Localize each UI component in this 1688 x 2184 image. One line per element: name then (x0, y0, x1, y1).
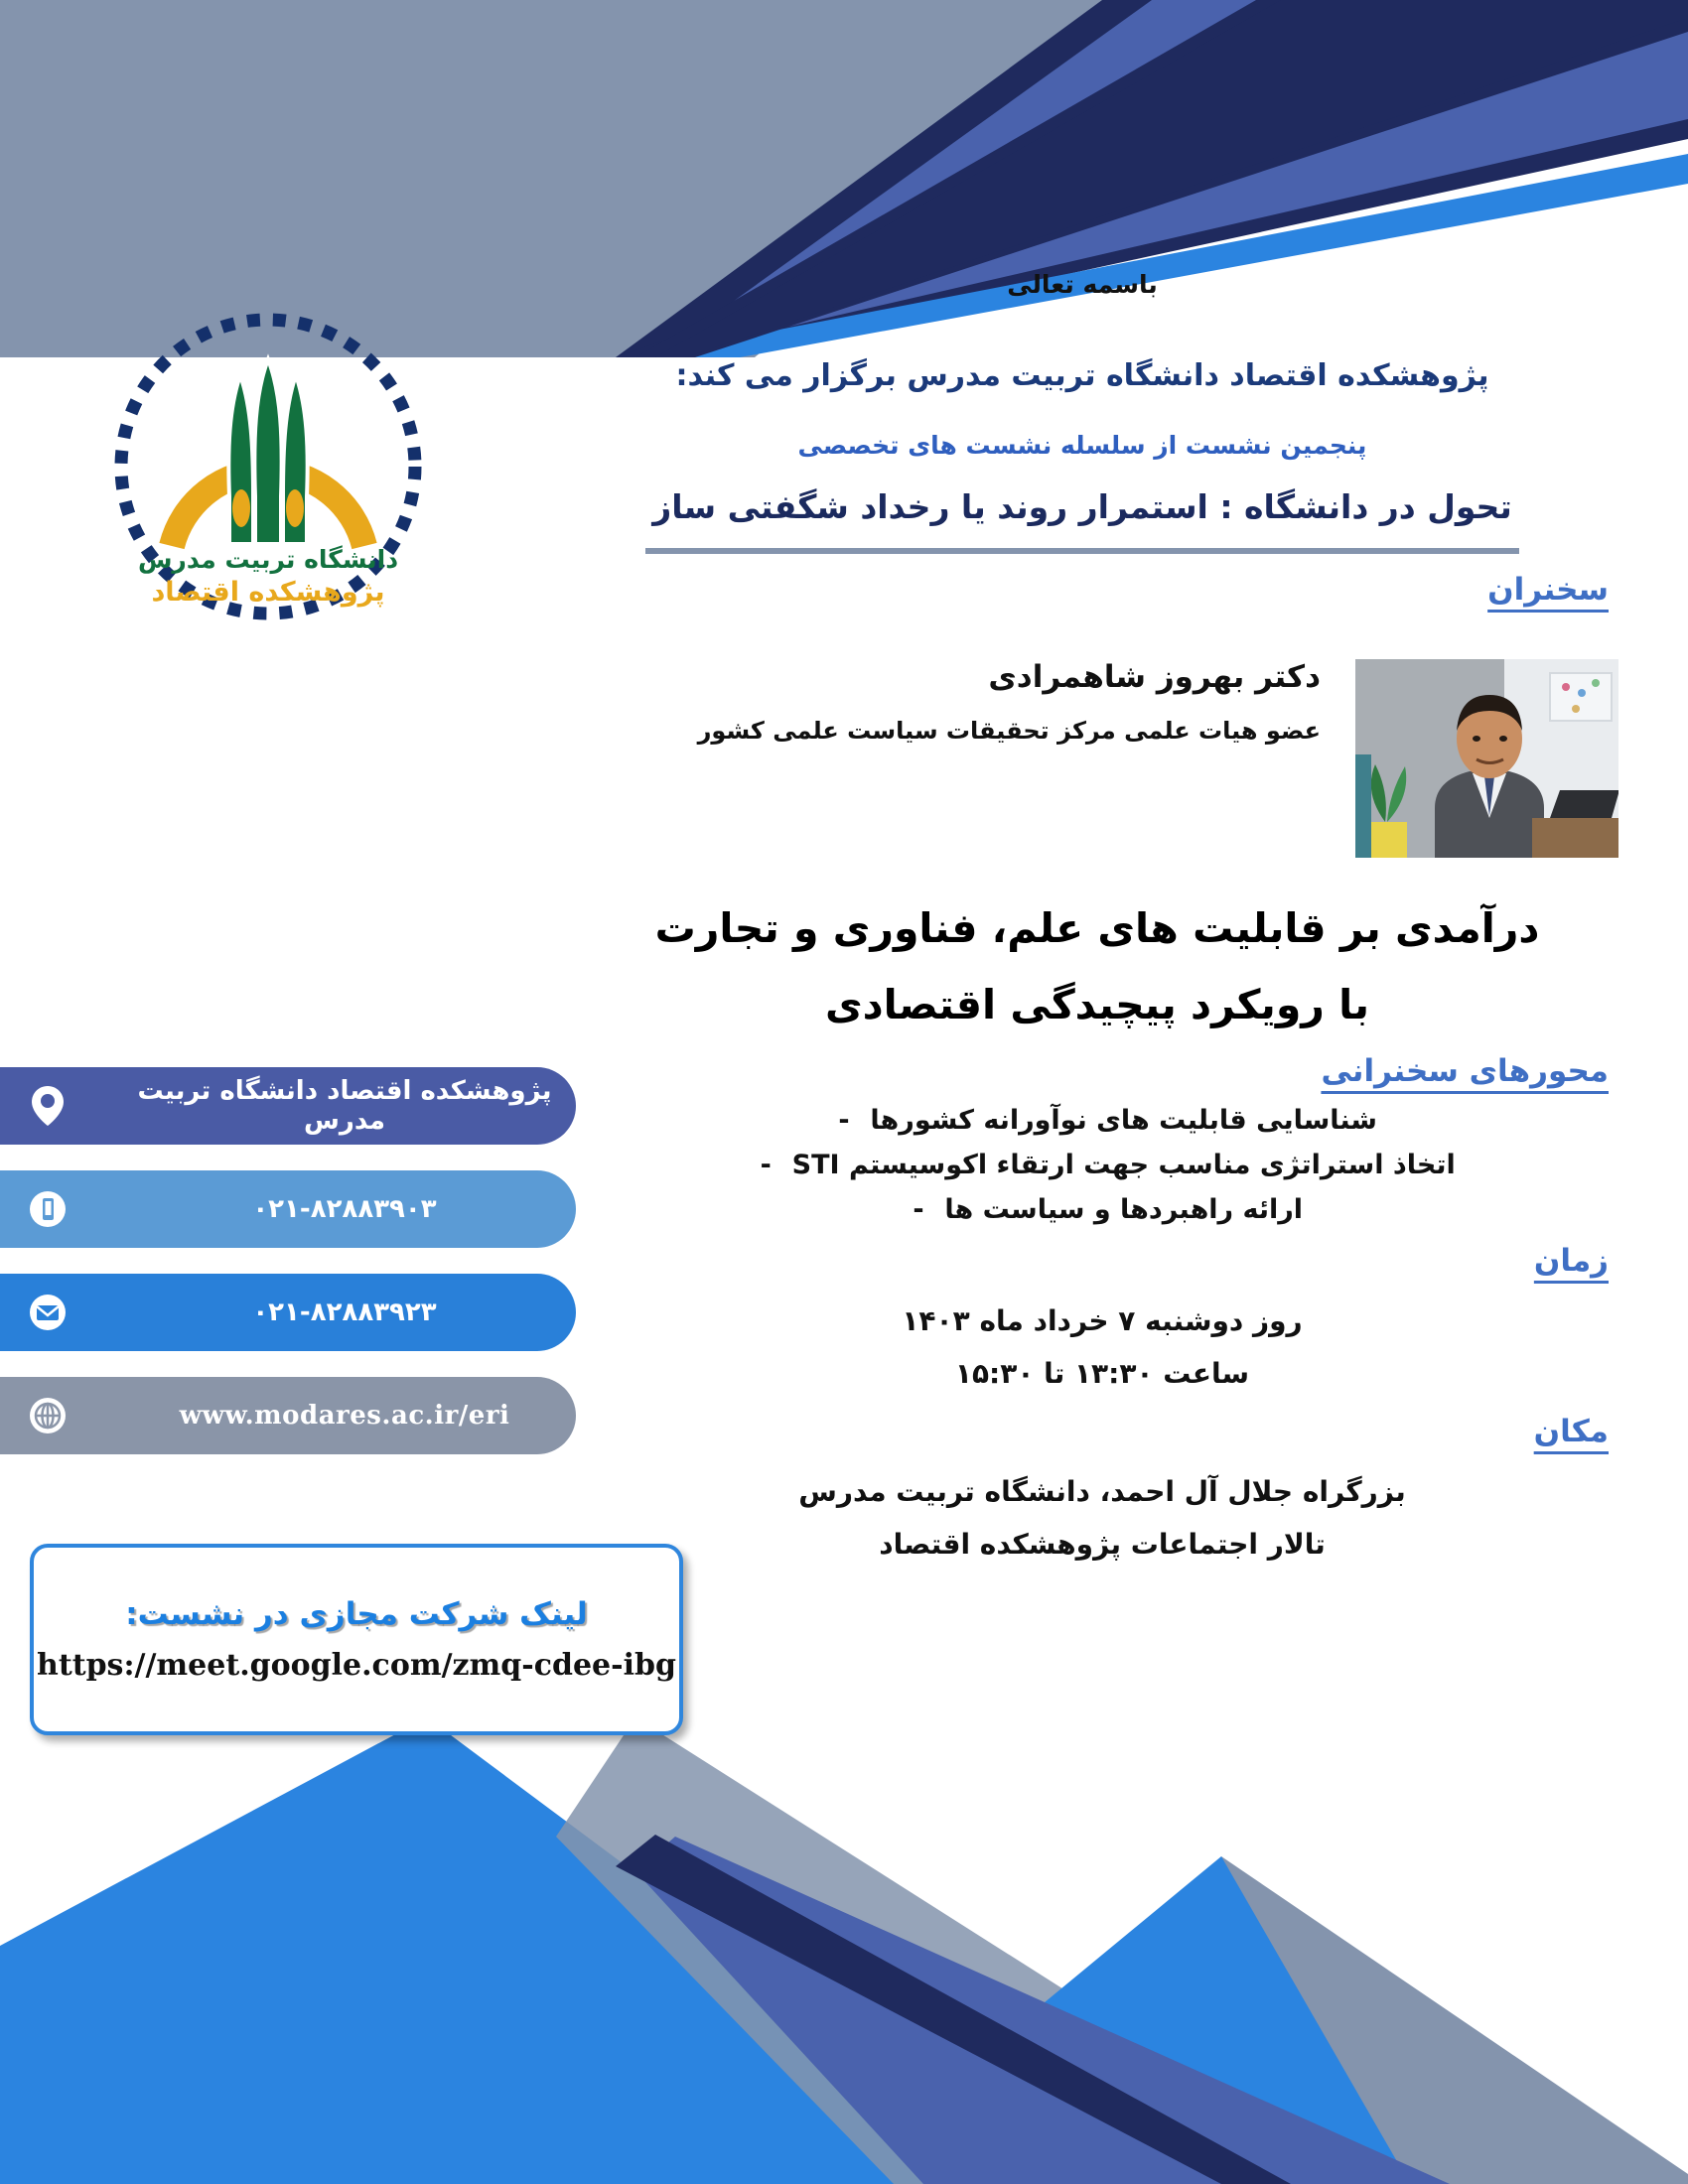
speaker-name: دکتر بهروز شاهمرادی (556, 659, 1321, 695)
bottom-decoration (0, 1717, 1688, 2184)
logo-university-name: دانشگاه تربیت مدرس (138, 545, 398, 575)
university-logo: دانشگاه تربیت مدرس پژوهشکده اقتصاد (104, 298, 432, 625)
section-heading-topics: محورهای سخنرانی (556, 1053, 1609, 1089)
talk-title-line-2: با رویکرد پیچیدگی اقتصادی (556, 976, 1609, 1034)
host-line: پژوهشکده اقتصاد دانشگاه تربیت مدرس برگزا… (556, 358, 1609, 393)
globe-icon (16, 1384, 79, 1447)
section-heading-speaker: سخنران (556, 572, 1609, 608)
contact-pill-website[interactable]: www.modares.ac.ir/eri (0, 1377, 576, 1454)
topics-list: شناسایی قابلیت های نوآورانه کشورها - اتخ… (556, 1105, 1609, 1225)
speaker-affiliation: عضو هیات علمی مرکز تحقیقات سیاست علمی کش… (556, 717, 1321, 745)
venue-address-line-2: تالار اجتماعات پژوهشکده اقتصاد (556, 1528, 1609, 1561)
section-heading-time: زمان (556, 1243, 1609, 1279)
contact-pill-phone[interactable]: ۰۲۱-۸۲۸۸۳۹۰۳ (0, 1170, 576, 1248)
event-hours: ساعت ۱۳:۳۰ تا ۱۵:۳۰ (556, 1357, 1609, 1390)
topic-text: شناسایی قابلیت های نوآورانه کشورها (870, 1105, 1377, 1136)
contact-pill-address[interactable]: پژوهشکده اقتصاد دانشگاه تربیت مدرس (0, 1067, 576, 1145)
bullet-dash: - (749, 1150, 782, 1180)
venue-address-line-1: بزرگراه جلال آل احمد، دانشگاه تربیت مدرس (556, 1475, 1609, 1508)
contact-fax-text: ۰۲۱-۸۲۸۸۳۹۲۳ (89, 1297, 576, 1327)
bullet-dash: - (827, 1105, 861, 1136)
event-date: روز دوشنبه ۷ خرداد ماه ۱۴۰۳ (556, 1304, 1609, 1337)
divider-rule (645, 548, 1519, 554)
envelope-icon (16, 1281, 79, 1344)
logo-institute-name: پژوهشکده اقتصاد (151, 577, 384, 608)
speaker-photo (1355, 659, 1618, 858)
basmala-text: باسمه تعالی (556, 270, 1609, 299)
contact-pill-group: پژوهشکده اقتصاد دانشگاه تربیت مدرس ۰۲۱-۸… (0, 1067, 576, 1480)
contact-website-text: www.modares.ac.ir/eri (89, 1401, 576, 1431)
virtual-meeting-box[interactable]: لینک شرکت مجازی در نشست: https://meet.go… (30, 1544, 683, 1735)
contact-pill-fax[interactable]: ۰۲۱-۸۲۸۸۳۹۲۳ (0, 1274, 576, 1351)
section-heading-venue: مکان (556, 1414, 1609, 1449)
location-pin-icon (16, 1074, 79, 1138)
bullet-dash: - (902, 1194, 935, 1225)
list-item: ارائه راهبردها و سیاست ها - (556, 1194, 1609, 1225)
poster-canvas: دانشگاه تربیت مدرس پژوهشکده اقتصاد باسمه… (0, 0, 1688, 2184)
topic-text: ارائه راهبردها و سیاست ها (944, 1194, 1303, 1225)
series-line: پنجمین نشست از سلسله نشست های تخصصی (556, 431, 1609, 460)
contact-phone-text: ۰۲۱-۸۲۸۸۳۹۰۳ (89, 1194, 576, 1224)
theme-line: تحول در دانشگاه : استمرار روند یا رخداد … (556, 487, 1609, 526)
list-item: اتخاذ استراتژی مناسب جهت ارتقاء اکوسیستم… (556, 1150, 1609, 1180)
talk-title-line-1: درآمدی بر قابلیت های علم، فناوری و تجارت (556, 899, 1609, 958)
speaker-row: دکتر بهروز شاهمرادی عضو هیات علمی مرکز ت… (556, 659, 1609, 858)
meeting-label: لینک شرکت مجازی در نشست: (125, 1596, 588, 1632)
main-content: باسمه تعالی پژوهشکده اقتصاد دانشگاه تربی… (556, 0, 1609, 1561)
contact-address-text: پژوهشکده اقتصاد دانشگاه تربیت مدرس (89, 1076, 576, 1136)
list-item: شناسایی قابلیت های نوآورانه کشورها - (556, 1105, 1609, 1136)
phone-icon (16, 1177, 79, 1241)
meeting-url[interactable]: https://meet.google.com/zmq-cdee-ibg (37, 1648, 676, 1683)
topic-text: اتخاذ استراتژی مناسب جهت ارتقاء اکوسیستم… (792, 1150, 1456, 1180)
